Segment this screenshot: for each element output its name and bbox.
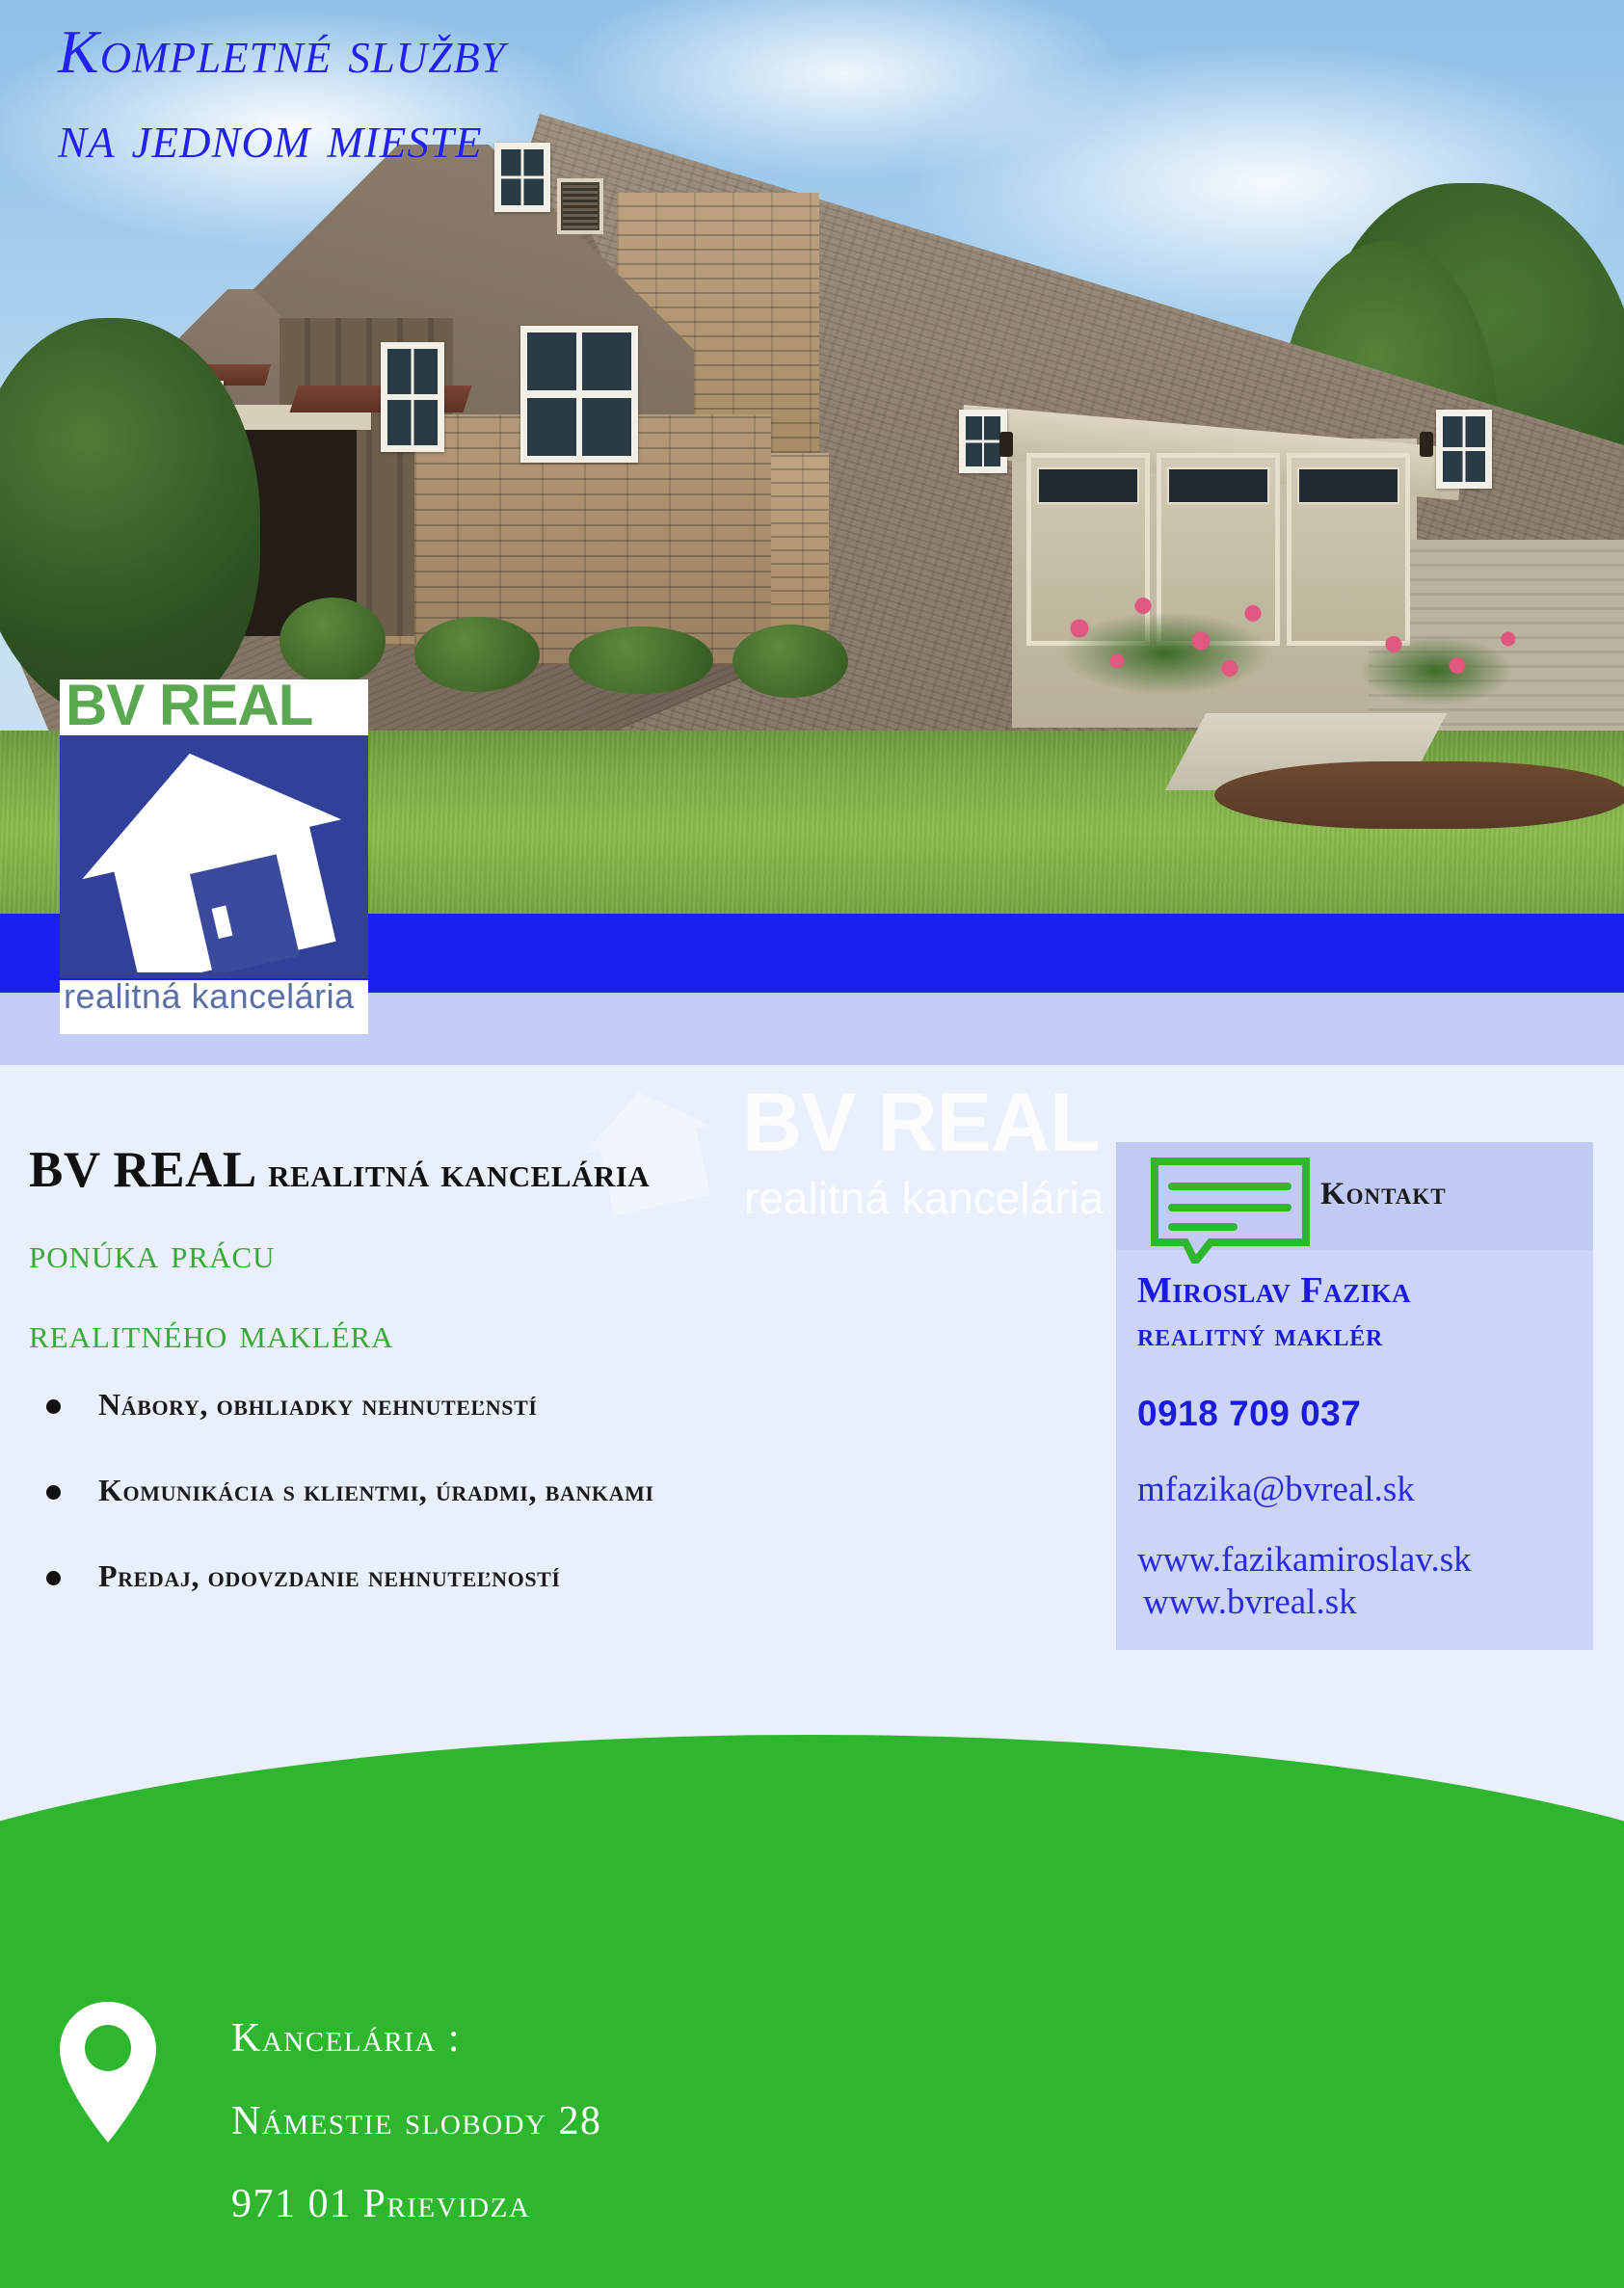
offer-line-2: realitného makléra: [29, 1309, 1108, 1358]
website-personal[interactable]: www.fazikamiroslav.sk: [1137, 1539, 1593, 1582]
agent-websites: www.fazikamiroslav.sk www.bvreal.sk: [1116, 1539, 1593, 1625]
lamp-left: [999, 432, 1013, 457]
company-subtitle: realitná kancelária: [268, 1149, 650, 1196]
office-city: 971 01 Prievidza: [231, 2163, 601, 2246]
office-address: Kancelária : Námestie slobody 28 971 01 …: [231, 1997, 601, 2246]
mulch-bed: [1214, 761, 1624, 829]
logo-house-box: [60, 735, 368, 978]
flower-bush-1: [1022, 578, 1311, 704]
agent-phone[interactable]: 0918 709 037: [1116, 1394, 1593, 1434]
flyer-page: Kompletné služby na jednom mieste BV REA…: [0, 0, 1624, 2288]
contact-label: Kontakt: [1320, 1177, 1447, 1212]
logo-name-band: BV REAL: [60, 679, 368, 742]
headline-line-2: na jednom mieste: [58, 94, 829, 179]
logo-house-icon: [73, 745, 355, 972]
shrub-2: [414, 617, 540, 692]
footer-content: Kancelária : Námestie slobody 28 971 01 …: [0, 1735, 1624, 2288]
location-pin-icon: [56, 2000, 160, 2144]
shrub-3: [569, 626, 713, 694]
office-street: Námestie slobody 28: [231, 2080, 601, 2163]
footer: Kancelária : Námestie slobody 28 971 01 …: [0, 1735, 1624, 2288]
company-name: BV REAL: [29, 1142, 257, 1198]
agent-email[interactable]: mfazika@bvreal.sk: [1116, 1469, 1593, 1510]
window-right-side: [1436, 410, 1492, 489]
duties-list: Nábory, obhliadky nehnuteľnstí Komunikác…: [29, 1387, 1108, 1594]
main-content: BV REAL realitná kancelária ponúka prácu…: [29, 1142, 1108, 1644]
lamp-right: [1420, 432, 1433, 457]
headline-line-1: Kompletné služby: [58, 10, 829, 94]
company-heading: BV REAL realitná kancelária: [29, 1142, 1108, 1198]
logo-tagline: realitná kancelária: [64, 976, 355, 1017]
list-item: Nábory, obhliadky nehnuteľnstí: [29, 1387, 1108, 1423]
agent-role: realitný maklér: [1116, 1315, 1593, 1357]
logo-tagline-band: realitná kancelária: [60, 980, 368, 1034]
hero-headline: Kompletné služby na jednom mieste: [58, 10, 829, 180]
list-item: Predaj, odovzdanie nehnuteľností: [29, 1558, 1108, 1594]
agent-name: Miroslav Fazika: [1116, 1267, 1593, 1315]
contact-details: Miroslav Fazika realitný maklér 0918 709…: [1116, 1250, 1593, 1650]
window-middle: [381, 342, 444, 452]
offer-line-1: ponúka prácu: [29, 1229, 1108, 1278]
gable-vent: [557, 178, 603, 234]
office-label: Kancelária :: [231, 1997, 601, 2080]
bv-real-logo: BV REAL realitná kancelária: [60, 679, 368, 1036]
speech-bubble-icon: [1151, 1157, 1310, 1264]
window-large: [520, 326, 638, 463]
flower-bush-2: [1330, 607, 1542, 713]
website-company[interactable]: www.bvreal.sk: [1137, 1582, 1593, 1624]
contact-panel: Kontakt Miroslav Fazika realitný maklér …: [1116, 1142, 1593, 1650]
list-item: Komunikácia s klientmi, úradmi, bankami: [29, 1473, 1108, 1508]
contact-header: Kontakt: [1116, 1142, 1593, 1250]
shrub-4: [732, 625, 848, 698]
logo-name: BV REAL: [66, 672, 312, 738]
